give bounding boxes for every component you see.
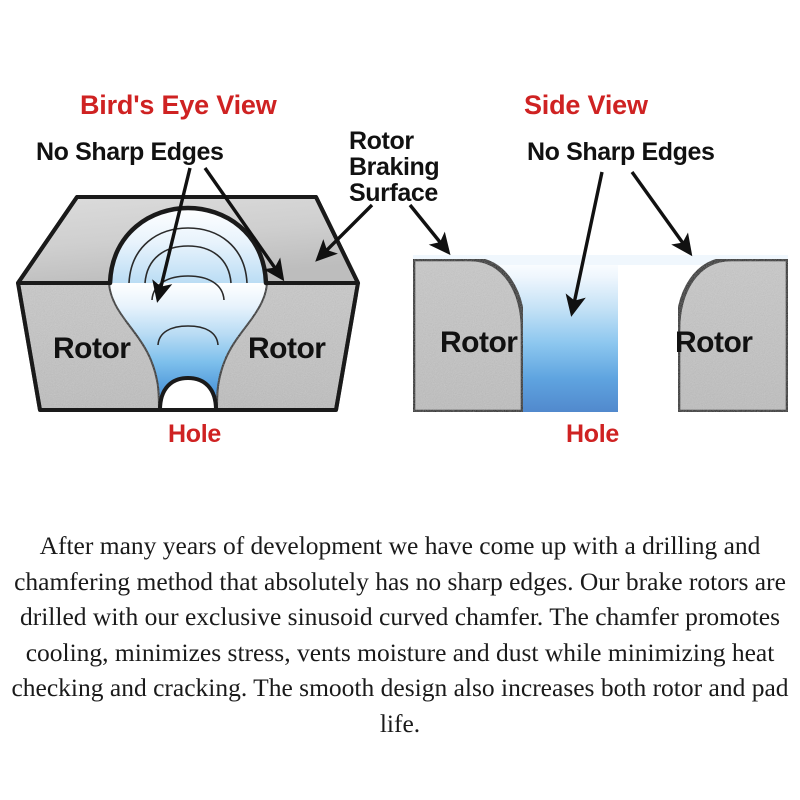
birds-eye-block: [18, 197, 358, 410]
rotor-braking-surface-line-2: Braking: [349, 155, 439, 180]
birds-eye-rotor-label-left: Rotor: [53, 332, 130, 366]
side-hole-label: Hole: [566, 420, 619, 449]
rotor-braking-surface-line-1: Rotor: [349, 129, 414, 154]
side-view-title: Side View: [524, 90, 648, 121]
birds-eye-view-title: Bird's Eye View: [80, 90, 277, 121]
side-no-sharp-edges-arrow-right: [632, 172, 690, 253]
diagram-page: Bird's Eye View Side View No Sharp Edges…: [0, 0, 800, 800]
hole-notch: [160, 378, 216, 410]
description-paragraph: After many years of development we have …: [8, 528, 792, 741]
birds-eye-no-sharp-edges-label: No Sharp Edges: [36, 140, 224, 165]
side-rotor-label-left: Rotor: [440, 326, 517, 360]
birds-eye-hole-label: Hole: [168, 420, 221, 449]
side-rotor-label-right: Rotor: [675, 326, 752, 360]
birds-eye-rotor-label-right: Rotor: [248, 332, 325, 366]
side-no-sharp-edges-label: No Sharp Edges: [527, 140, 715, 165]
rotor-chamfer-illustration: [0, 0, 800, 520]
rotor-braking-surface-arrow-right: [410, 205, 448, 252]
rotor-braking-surface-line-3: Surface: [349, 181, 438, 206]
